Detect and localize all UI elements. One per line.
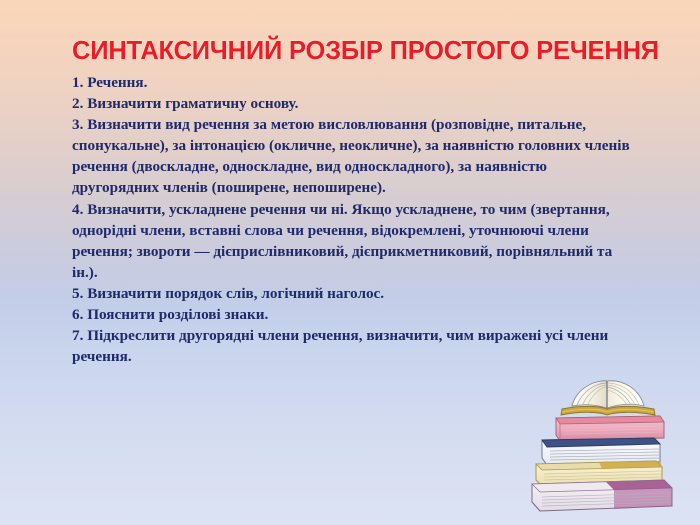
stack-of-books-icon xyxy=(514,378,700,525)
list-item: 1. Речення. xyxy=(72,72,634,93)
slide-body-text: 1. Речення. 2. Визначити граматичну осно… xyxy=(72,72,634,367)
slide-title: СИНТАКСИЧНИЙ РОЗБІР ПРОСТОГО РЕЧЕННЯ xyxy=(72,36,632,66)
list-item: 2. Визначити граматичну основу. xyxy=(72,93,634,114)
list-item: 7. Підкреслити другорядні члени речення,… xyxy=(72,325,634,367)
list-item: 5. Визначити порядок слів, логічний наго… xyxy=(72,283,634,304)
list-item: 4. Визначити, ускладнене речення чи ні. … xyxy=(72,199,634,283)
stack-of-books-illustration xyxy=(514,378,700,525)
list-item: 3. Визначити вид речення за метою вислов… xyxy=(72,114,634,198)
list-item: 6. Пояснити розділові знаки. xyxy=(72,304,634,325)
slide-canvas: СИНТАКСИЧНИЙ РОЗБІР ПРОСТОГО РЕЧЕННЯ 1. … xyxy=(0,0,700,525)
